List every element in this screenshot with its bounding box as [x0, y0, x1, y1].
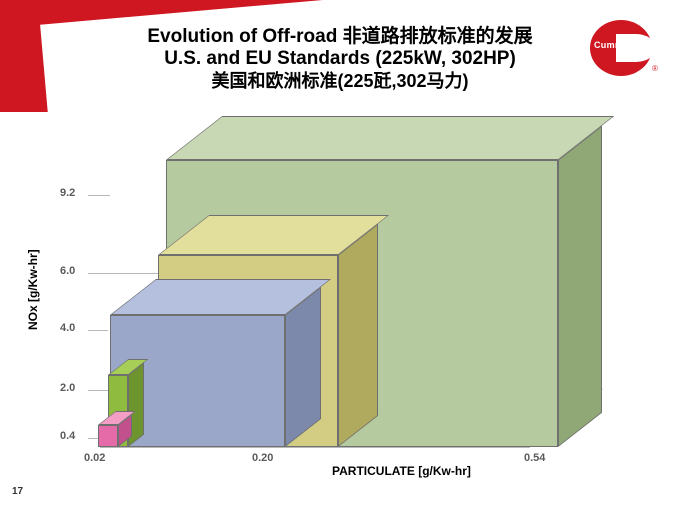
title-line3-cn: 美国和欧洲标准: [211, 71, 337, 91]
x-axis-label: PARTICULATE [g/Kw-hr]: [332, 464, 471, 478]
bar-tier3-side: [285, 287, 321, 447]
title-line2: U.S. and EU Standards (225kW, 302HP): [0, 48, 680, 70]
slide-header: Evolution of Off-road 非道路排放标准的发展 U.S. an…: [0, 0, 680, 112]
x-tick-0-54: 0.54: [524, 452, 545, 464]
bar-tier1-top: [166, 116, 614, 160]
x-tick-0-02: 0.02: [84, 452, 105, 464]
cummins-logo: Cummins ®: [590, 20, 664, 82]
slide-number: 17: [12, 486, 23, 497]
y-axis-label: NOx [g/Kw-hr]: [26, 249, 40, 330]
title-line3-paren: (225瓩,302马力): [337, 71, 468, 91]
guide-line-2-0: [88, 390, 110, 391]
footer-divider: [0, 504, 680, 510]
title-line1-cn: 非道路排放标准的发展: [343, 26, 533, 47]
bar-tier4f-front: [98, 425, 118, 447]
y-tick-6-0: 6.0: [60, 265, 75, 277]
emissions-chart: NOx [g/Kw-hr] PARTICULATE [g/Kw-hr] 9.2 …: [0, 100, 680, 490]
y-tick-0-4: 0.4: [60, 430, 75, 442]
y-tick-2-0: 2.0: [60, 382, 75, 394]
bar-tier1-side: [558, 126, 602, 447]
title-line1-en: Evolution of Off-road: [147, 26, 342, 47]
guide-line-4-0: [88, 330, 108, 331]
logo-wordmark: Cummins: [594, 40, 660, 50]
guide-line-6-0: [88, 273, 158, 274]
page-title: Evolution of Off-road 非道路排放标准的发展 U.S. an…: [0, 26, 680, 92]
x-axis-base-line: [100, 447, 530, 448]
y-tick-9-2: 9.2: [60, 187, 75, 199]
bar-tier2-side: [338, 224, 378, 447]
bar-tier4-final-stage4: [98, 425, 118, 447]
logo-registered-mark: ®: [652, 64, 658, 73]
x-tick-0-20: 0.20: [252, 452, 273, 464]
y-tick-4-0: 4.0: [60, 322, 75, 334]
guide-line-9-2: [88, 195, 110, 196]
